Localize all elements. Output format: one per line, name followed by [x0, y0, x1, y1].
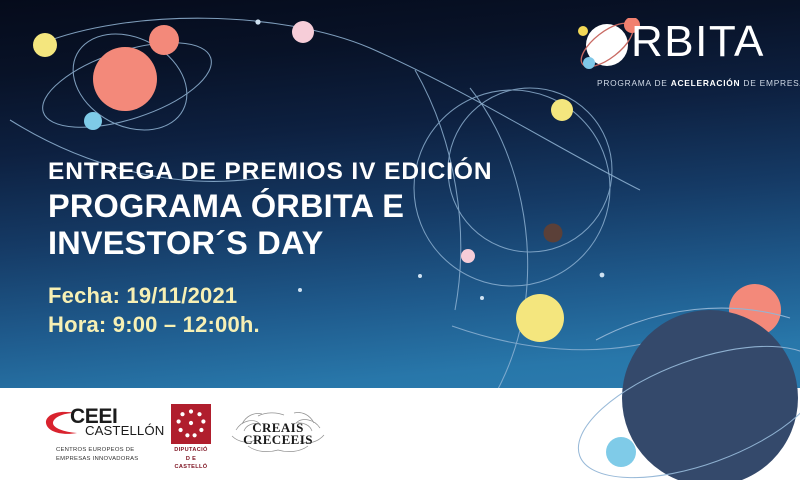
orbita-dot-yellow	[578, 26, 588, 36]
page-title: PROGRAMA ÓRBITA E INVESTOR´S DAY	[48, 188, 568, 262]
diputacio-line-1: DIPUTACIÓ	[163, 446, 219, 455]
event-time: Hora: 9:00 – 12:00h.	[48, 310, 260, 339]
creais-line-2: CRECEEIS	[243, 432, 313, 447]
diputacio-line-3: CASTELLÓ	[163, 463, 219, 472]
event-details: Fecha: 19/11/2021 Hora: 9:00 – 12:00h.	[48, 281, 260, 340]
ceei-sub-text: CASTELLÓN	[85, 424, 164, 437]
orbita-wordmark: RBITA	[631, 20, 765, 64]
creais-text-line-1: CREAIS	[328, 406, 329, 407]
tagline-post: DE EMPRESAS	[740, 78, 800, 88]
creais-text-line-2: CRECEEIS	[328, 406, 329, 407]
diputacio-line-2: D E	[163, 455, 219, 464]
logo-diputacio-castello: DIPUTACIÓ D E CASTELLÓ	[163, 404, 219, 472]
orbita-dot-blue	[583, 57, 595, 69]
ceei-tagline-line-2: EMPRESAS INNOVADORAS	[56, 455, 164, 464]
sponsor-logo-row: CEEI CASTELLÓN CENTROS EUROPEOS DE EMPRE…	[0, 396, 340, 474]
diputacio-text: DIPUTACIÓ D E CASTELLÓ	[163, 446, 219, 472]
event-date: Fecha: 19/11/2021	[48, 281, 260, 310]
logo-creais-creceeis: CREAIS CRECEEIS CREAIS CRECEEIS	[228, 406, 328, 458]
title-line-2: INVESTOR´S DAY	[48, 225, 568, 262]
orbita-tagline: PROGRAMA DE ACELERACIÓN DE EMPRESAS	[597, 78, 790, 88]
ceei-tagline-line-1: CENTROS EUROPEOS DE	[56, 446, 164, 455]
ceei-tagline: CENTROS EUROPEOS DE EMPRESAS INNOVADORAS	[56, 446, 164, 463]
poster-canvas: ENTREGA DE PREMIOS IV EDICIÓN PROGRAMA Ó…	[0, 0, 800, 480]
creais-ornament-icon: CREAIS CRECEEIS	[228, 406, 328, 458]
logo-ceei-castellon: CEEI CASTELLÓN CENTROS EUROPEOS DE EMPRE…	[44, 408, 164, 463]
tagline-pre: PROGRAMA DE	[597, 78, 671, 88]
headline-block: ENTREGA DE PREMIOS IV EDICIÓN PROGRAMA Ó…	[48, 158, 568, 263]
title-line-1: PROGRAMA ÓRBITA E	[48, 188, 568, 225]
tagline-bold: ACELERACIÓN	[671, 78, 741, 88]
headline-kicker: ENTREGA DE PREMIOS IV EDICIÓN	[48, 158, 568, 185]
orbita-brand-lockup: RBITA PROGRAMA DE ACELERACIÓN DE EMPRESA…	[575, 18, 790, 98]
diputacio-crest-icon	[171, 404, 211, 444]
